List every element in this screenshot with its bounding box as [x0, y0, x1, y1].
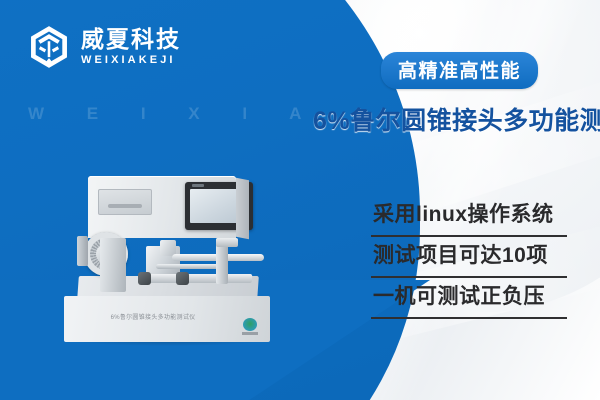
company-emblem-glyph: [243, 318, 257, 331]
feature-label: 测试项目可达10项: [371, 237, 567, 276]
product-photo: 6%鲁尔圆锥接头多功能测试仪: [64, 176, 280, 360]
machine-housing-side: [236, 178, 249, 240]
brand-watermark: W E I X I A K E J I: [28, 104, 328, 124]
feature-item: 测试项目可达10项: [371, 237, 567, 278]
feature-item: 采用linux操作系统: [371, 196, 567, 237]
hexagon-shield-icon: [26, 24, 72, 70]
machine-plate-slot: [108, 204, 142, 208]
machine-knob: [176, 272, 189, 285]
headline-badge: 高精准高性能: [381, 52, 538, 89]
page-title: 6%鲁尔圆锥接头多功能测试仪: [313, 101, 600, 137]
brand-name-en: WEIXIAKEJI: [81, 54, 181, 67]
feature-divider: [371, 317, 567, 319]
machine-base: 6%鲁尔圆锥接头多功能测试仪: [64, 296, 270, 342]
brand-logo: 威夏科技 WEIXIAKEJI: [26, 24, 181, 70]
machine-guide-rail: [140, 274, 253, 283]
company-emblem-caption: [242, 332, 258, 335]
brand-logo-text: 威夏科技 WEIXIAKEJI: [81, 27, 181, 67]
brand-name-cn: 威夏科技: [81, 27, 181, 53]
machine-secondary-rod: [156, 264, 224, 269]
machine-knob: [138, 272, 151, 285]
feature-label: 一机可测试正负压: [371, 278, 567, 317]
machine-left-clamp: [77, 236, 88, 266]
machine-bracket: [100, 238, 126, 292]
feature-list: 采用linux操作系统 测试项目可达10项 一机可测试正负压: [371, 196, 567, 319]
feature-item: 一机可测试正负压: [371, 278, 567, 319]
machine-base-label: 6%鲁尔圆锥接头多功能测试仪: [64, 312, 242, 321]
feature-label: 采用linux操作系统: [371, 196, 567, 235]
company-emblem-icon: [241, 318, 258, 337]
machine-right-post-cap: [216, 238, 238, 247]
promo-banner: W E I X I A K E J I 威夏科技 WEIXIAKEJI 高精准高…: [0, 0, 600, 400]
machine-access-plate: [98, 189, 152, 215]
machine-upper-housing: [88, 176, 236, 238]
machine-screen-led: [192, 184, 204, 187]
